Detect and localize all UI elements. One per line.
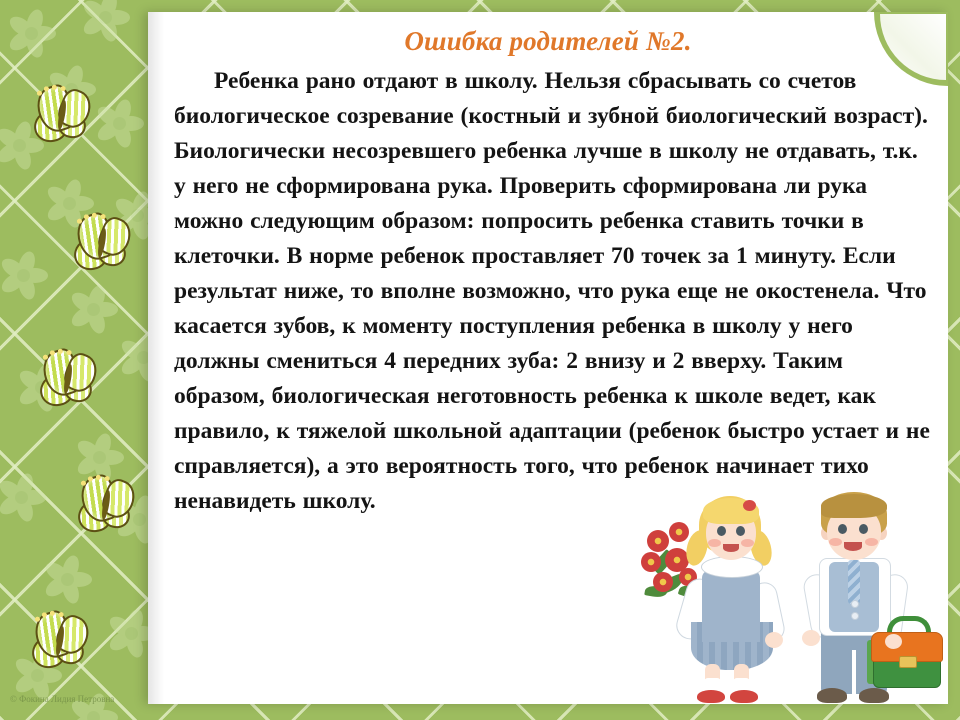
butterfly-icon xyxy=(72,212,134,270)
boy-cheek-right xyxy=(865,538,878,546)
boy-hand-right xyxy=(885,634,902,649)
boy-eye-left xyxy=(838,524,847,534)
girl-mouth xyxy=(723,544,739,552)
boy-hand-left xyxy=(802,630,820,646)
girl-eye-left xyxy=(717,526,726,536)
boy-cheek-left xyxy=(829,538,842,546)
flower-motif-icon xyxy=(0,470,48,524)
bouquet-flower-icon xyxy=(653,572,673,592)
butterfly-icon xyxy=(38,348,100,406)
girl-cheek-left xyxy=(708,539,721,547)
butterfly-icon xyxy=(32,84,94,142)
boy-eye-right xyxy=(859,524,868,534)
boy-trousers-split xyxy=(852,650,856,694)
slide-canvas: Ошибка родителей №2. Ребенка рано отдают… xyxy=(0,0,960,720)
girl-shoe-left xyxy=(697,690,725,703)
flower-motif-icon xyxy=(40,552,94,606)
content-page: Ошибка родителей №2. Ребенка рано отдают… xyxy=(148,12,948,704)
boy-vest-button xyxy=(851,612,859,620)
page-title: Ошибка родителей №2. xyxy=(148,26,948,57)
boy-vest-button xyxy=(851,600,859,608)
bouquet-flower-icon xyxy=(641,552,661,572)
copyright-watermark: © Фокина Лидия Петровна xyxy=(10,694,114,704)
page-edge-shadow xyxy=(148,12,164,704)
bouquet-flower-icon xyxy=(647,530,669,552)
boy-shoe-right xyxy=(859,688,889,703)
bouquet-flower-icon xyxy=(669,522,689,542)
body-paragraph: Ребенка рано отдают в школу. Нельзя сбра… xyxy=(174,64,934,519)
butterfly-icon xyxy=(76,474,138,532)
butterfly-icon xyxy=(30,610,92,668)
girl-shoe-right xyxy=(730,690,758,703)
boy-necktie xyxy=(848,560,860,604)
girl-pinafore xyxy=(702,570,760,642)
flower-motif-icon xyxy=(66,282,120,336)
girl-eye-right xyxy=(736,526,745,536)
boy-mouth xyxy=(844,542,862,551)
boy-shoe-left xyxy=(817,688,847,703)
schoolchildren-illustration xyxy=(635,482,935,707)
boy-fringe xyxy=(821,494,887,518)
flower-motif-icon xyxy=(4,6,58,60)
satchel-lock-icon xyxy=(899,656,917,668)
girl-hair-bow xyxy=(743,500,756,511)
flower-motif-icon xyxy=(78,0,132,44)
flower-motif-icon xyxy=(0,248,50,302)
girl-cheek-right xyxy=(741,539,754,547)
flower-motif-icon xyxy=(92,96,146,150)
girl-hand-right xyxy=(765,632,783,648)
